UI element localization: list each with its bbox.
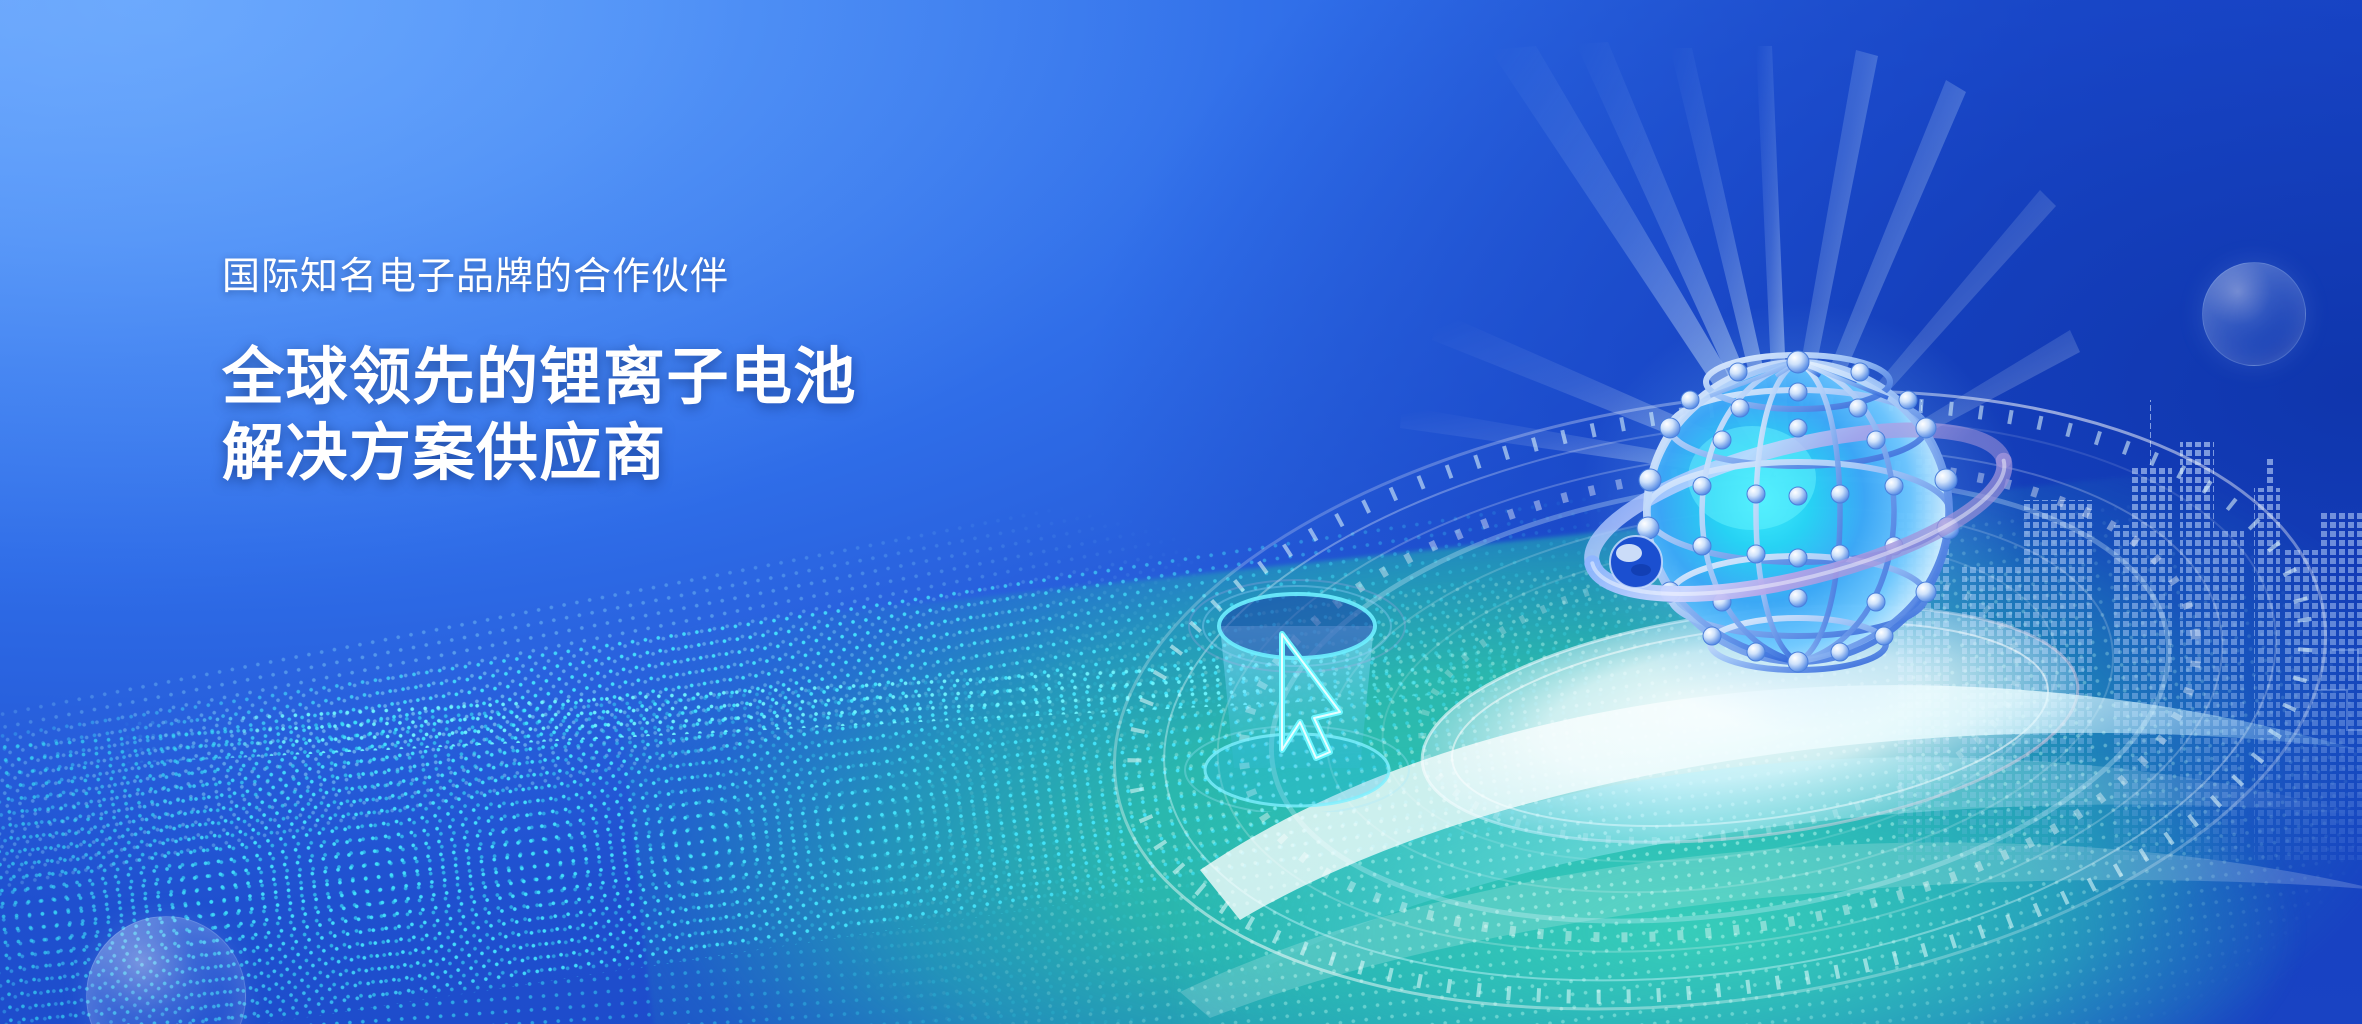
- wireframe-globe-icon: [1570, 300, 2030, 730]
- cursor-portal-icon: [1182, 572, 1412, 812]
- hero-text-block: 国际知名电子品牌的合作伙伴 全球领先的锂离子电池 解决方案供应商: [222, 258, 1042, 491]
- hero-banner: 国际知名电子品牌的合作伙伴 全球领先的锂离子电池 解决方案供应商: [0, 0, 2362, 1024]
- headline-line-2: 解决方案供应商: [222, 416, 1042, 492]
- hero-eyebrow: 国际知名电子品牌的合作伙伴: [222, 258, 1042, 296]
- headline-line-1: 全球领先的锂离子电池: [222, 340, 1042, 416]
- page-title: 全球领先的锂离子电池 解决方案供应商: [222, 340, 1042, 491]
